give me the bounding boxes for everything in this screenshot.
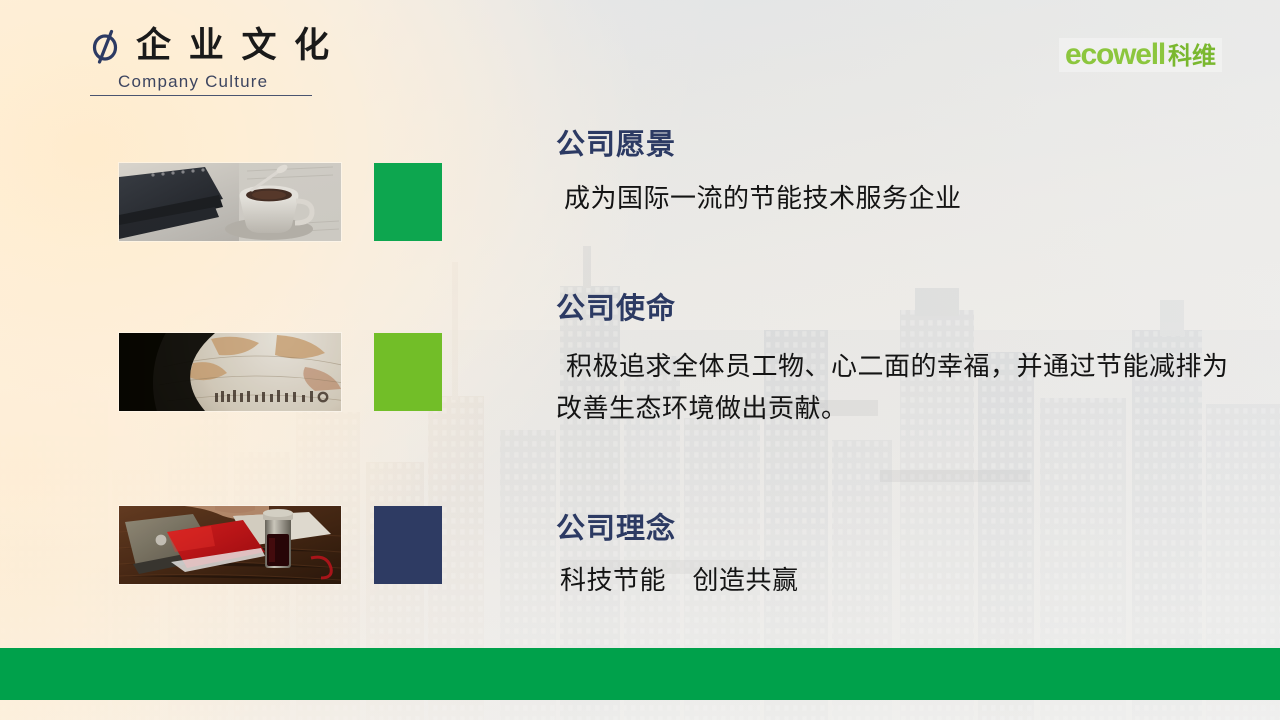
notebook-and-coffee-cup-photo — [119, 163, 341, 241]
block-title: 公司使命 — [556, 292, 1246, 327]
ecowell-logo: ecowell 科维 — [1059, 38, 1222, 72]
light-green-accent-square — [374, 333, 442, 411]
globe-map-photo — [119, 333, 341, 411]
slide-canvas: 企 业 文 化 Company Culture ecowell 科维 — [0, 0, 1280, 720]
block-title: 公司理念 — [556, 512, 799, 547]
block-title: 公司愿景 — [556, 128, 962, 163]
block-body: 科技节能 创造共赢 — [556, 559, 799, 601]
media-row — [119, 506, 442, 584]
header-divider — [90, 95, 312, 96]
media-row — [119, 333, 442, 411]
logo-wordmark: ecowell — [1065, 40, 1165, 70]
footer-accent-bar — [0, 648, 1280, 700]
content-block-vision: 公司愿景 成为国际一流的节能技术服务企业 — [556, 128, 962, 219]
page-title: 企 业 文 化 — [136, 27, 333, 66]
laptop-red-notebook-photo — [119, 506, 341, 584]
logo-chinese-name: 科维 — [1168, 45, 1216, 69]
media-row — [119, 163, 442, 241]
slide-header: 企 业 文 化 Company Culture — [88, 26, 568, 96]
diameter-slashed-circle-icon — [88, 26, 122, 66]
content-block-mission: 公司使命 积极追求全体员工物、心二面的幸福，并通过节能减排为改善生态环境做出贡献… — [556, 292, 1246, 429]
content-block-philosophy: 公司理念 科技节能 创造共赢 — [556, 512, 799, 601]
navy-accent-square — [374, 506, 442, 584]
page-subtitle: Company Culture — [118, 72, 568, 92]
green-accent-square — [374, 163, 442, 241]
block-body: 成为国际一流的节能技术服务企业 — [556, 177, 962, 219]
header-title-row: 企 业 文 化 — [88, 26, 568, 66]
block-body: 积极追求全体员工物、心二面的幸福，并通过节能减排为改善生态环境做出贡献。 — [556, 345, 1246, 429]
